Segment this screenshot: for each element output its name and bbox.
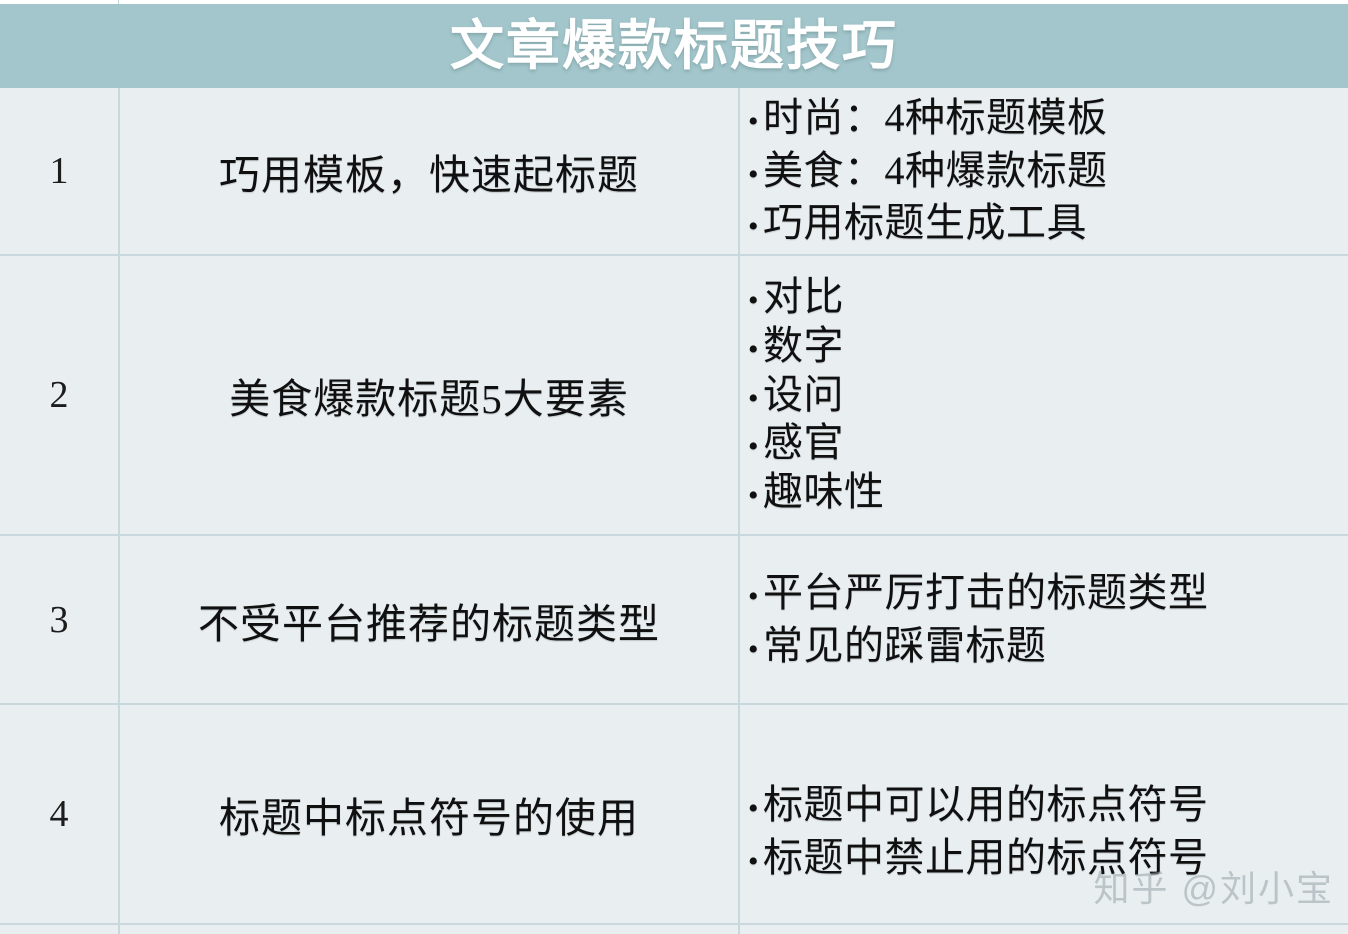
list-item-label: 平台严厉打击的标题类型 (763, 567, 1209, 620)
bullet-icon: • (748, 107, 759, 137)
bullet-icon: • (748, 432, 759, 462)
list-item-label: 数字 (763, 322, 844, 371)
bullet-list: •标题中可以用的标点符号 •标题中禁止用的标点符号 (740, 779, 1348, 885)
row-number-cell: 2 (0, 256, 118, 534)
bullet-icon: • (748, 794, 759, 824)
table-body: 1 巧用模板，快速起标题 •时尚：4种标题模板 •美食：4种爆款标题 •巧用标题… (0, 88, 1348, 934)
table-row: 4 标题中标点符号的使用 •标题中可以用的标点符号 •标题中禁止用的标点符号 (0, 705, 1348, 925)
list-item: •标题中禁止用的标点符号 (748, 832, 1348, 885)
row-number-cell: 4 (0, 705, 118, 923)
row-points-cell: •平台严厉打击的标题类型 •常见的踩雷标题 (738, 536, 1348, 703)
list-item-label: 标题中禁止用的标点符号 (763, 832, 1209, 885)
list-item: •感官 (748, 419, 1348, 468)
list-item: •对比 (748, 273, 1348, 322)
list-item: •巧用标题生成工具 (748, 197, 1348, 250)
bullet-icon: • (748, 212, 759, 242)
row-topic: 美食爆款标题5大要素 (229, 365, 629, 425)
list-item: •时尚：4种标题模板 (748, 92, 1348, 145)
row-topic-cell: 美食爆款标题5大要素 (118, 256, 738, 534)
row-number-cell: 1 (0, 88, 118, 254)
table-row-partial (0, 925, 1348, 934)
bullet-icon: • (748, 335, 759, 365)
list-item-label: 常见的踩雷标题 (763, 620, 1047, 673)
bullet-icon: • (748, 847, 759, 877)
bullet-icon: • (748, 481, 759, 511)
row-number: 2 (50, 376, 69, 414)
list-item-label: 时尚：4种标题模板 (763, 92, 1108, 145)
list-item: •平台严厉打击的标题类型 (748, 567, 1348, 620)
bullet-list: •时尚：4种标题模板 •美食：4种爆款标题 •巧用标题生成工具 (740, 92, 1348, 250)
bullet-icon: • (748, 582, 759, 612)
list-item: •标题中可以用的标点符号 (748, 779, 1348, 832)
list-item-label: 巧用标题生成工具 (763, 197, 1087, 250)
row-points-cell: •时尚：4种标题模板 •美食：4种爆款标题 •巧用标题生成工具 (738, 88, 1348, 254)
row-topic: 巧用模板，快速起标题 (219, 141, 639, 201)
list-item: •设问 (748, 371, 1348, 420)
bullet-icon: • (748, 286, 759, 316)
row-points-cell: •标题中可以用的标点符号 •标题中禁止用的标点符号 (738, 705, 1348, 923)
list-item-label: 标题中可以用的标点符号 (763, 779, 1209, 832)
list-item: •数字 (748, 322, 1348, 371)
list-item-label: 设问 (763, 371, 844, 420)
bullet-icon: • (748, 160, 759, 190)
row-number: 3 (50, 601, 69, 639)
row-topic-cell (118, 925, 738, 934)
row-number: 1 (50, 152, 69, 190)
list-item-label: 感官 (763, 419, 844, 468)
table-row: 3 不受平台推荐的标题类型 •平台严厉打击的标题类型 •常见的踩雷标题 (0, 536, 1348, 705)
list-item: •常见的踩雷标题 (748, 620, 1348, 673)
row-points-cell (738, 925, 1348, 934)
bullet-list: •对比 •数字 •设问 •感官 •趣味性 (740, 273, 1348, 517)
list-item-label: 对比 (763, 273, 844, 322)
document-page: 文章爆款标题技巧 1 巧用模板，快速起标题 •时尚：4种标题模板 •美食：4种爆… (0, 0, 1348, 934)
list-item-label: 美食：4种爆款标题 (763, 145, 1108, 198)
row-number-cell (0, 925, 118, 934)
row-topic-cell: 标题中标点符号的使用 (118, 705, 738, 923)
table-row: 1 巧用模板，快速起标题 •时尚：4种标题模板 •美食：4种爆款标题 •巧用标题… (0, 88, 1348, 256)
table-row: 2 美食爆款标题5大要素 •对比 •数字 •设问 •感官 •趣味性 (0, 256, 1348, 536)
table-header-banner: 文章爆款标题技巧 (0, 4, 1348, 88)
list-item: •美食：4种爆款标题 (748, 145, 1348, 198)
list-item: •趣味性 (748, 468, 1348, 517)
row-number-cell: 3 (0, 536, 118, 703)
bullet-icon: • (748, 384, 759, 414)
row-topic-cell: 巧用模板，快速起标题 (118, 88, 738, 254)
row-topic: 不受平台推荐的标题类型 (198, 590, 660, 650)
bullet-list: •平台严厉打击的标题类型 •常见的踩雷标题 (740, 567, 1348, 673)
list-item-label: 趣味性 (763, 468, 885, 517)
page-title: 文章爆款标题技巧 (450, 19, 898, 73)
row-topic-cell: 不受平台推荐的标题类型 (118, 536, 738, 703)
row-number: 4 (50, 795, 69, 833)
bullet-icon: • (748, 635, 759, 665)
row-topic: 标题中标点符号的使用 (219, 784, 639, 844)
row-points-cell: •对比 •数字 •设问 •感官 •趣味性 (738, 256, 1348, 534)
